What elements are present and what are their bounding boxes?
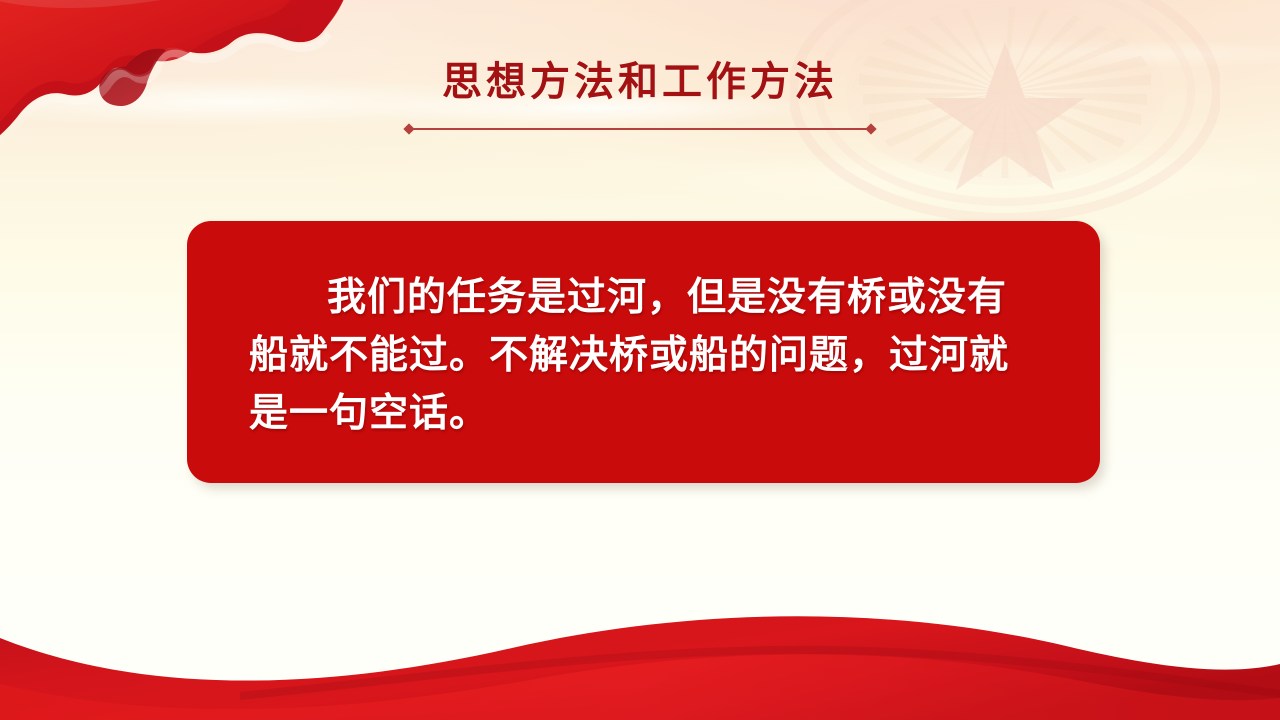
title-block: 思想方法和工作方法 [0,58,1280,105]
slide-canvas: 思想方法和工作方法 我们的任务是过河，但是没有桥或没有船就不能过。不解决桥或船的… [0,0,1280,720]
diamond-right-icon [865,123,876,134]
title-divider [405,123,875,135]
page-title: 思想方法和工作方法 [0,58,1280,105]
divider-rule [412,128,868,130]
diamond-left-icon [403,123,414,134]
quote-text: 我们的任务是过河，但是没有桥或没有船就不能过。不解决桥或船的问题，过河就是一句空… [249,269,1040,443]
quote-card: 我们的任务是过河，但是没有桥或没有船就不能过。不解决桥或船的问题，过河就是一句空… [187,221,1100,483]
